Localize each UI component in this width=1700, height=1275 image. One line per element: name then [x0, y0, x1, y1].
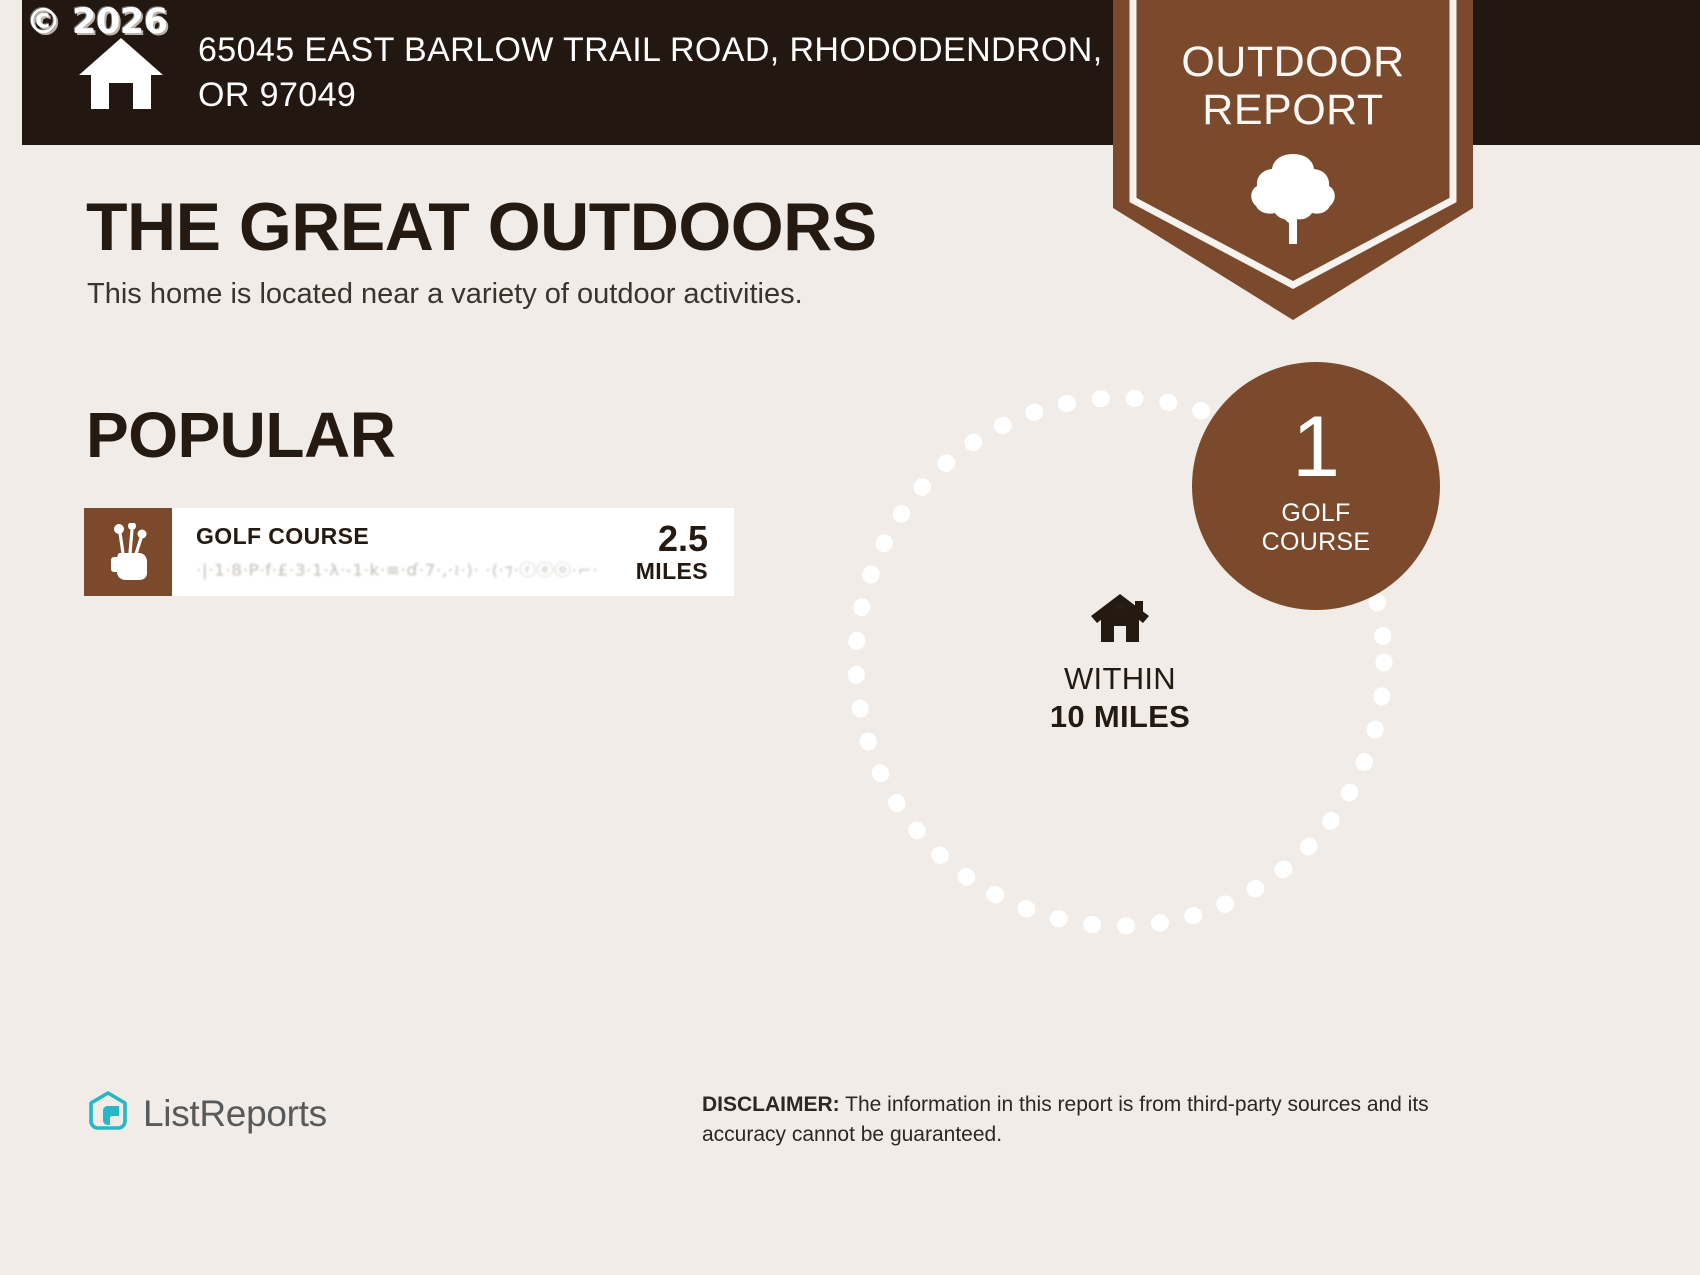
page-title: THE GREAT OUTDOORS [86, 188, 877, 266]
count-number: 1 [1292, 407, 1340, 489]
badge-title-line1: OUTDOOR [1113, 38, 1473, 86]
count-label-line1: GOLF [1262, 499, 1371, 528]
disclaimer-label: DISCLAIMER: [702, 1093, 840, 1116]
golf-bag-icon [84, 508, 172, 596]
poi-address-redacted: ·|·1·8·P·f·£·3·1·λ·-1·k·≡·ɗ·7·,·≀·⟩· ·⟨·… [196, 557, 598, 580]
page-subtitle: This home is located near a variety of o… [87, 278, 803, 311]
badge-title-line2: REPORT [1113, 86, 1473, 134]
list-item[interactable]: GOLF COURSE ·|·1·8·P·f·£·3·1·λ·-1·k·≡·ɗ·… [84, 508, 734, 596]
copyright-watermark: © 2026 [26, 2, 168, 42]
home-icon [1089, 631, 1151, 648]
listreports-house-logo-icon [86, 1089, 130, 1138]
outdoor-report-badge: OUTDOOR REPORT [1113, 0, 1473, 320]
list-item-text: GOLF COURSE ·|·1·8·P·f·£·3·1·λ·-1·k·≡·ɗ·… [196, 523, 598, 582]
count-bubble: 1 GOLF COURSE [1192, 362, 1440, 610]
center-home-marker: WITHIN 10 MILES [1025, 592, 1215, 735]
section-title-popular: POPULAR [86, 398, 395, 472]
poi-distance-unit: MILES [636, 559, 708, 584]
tree-icon [1247, 150, 1339, 245]
poi-name: GOLF COURSE [196, 523, 598, 551]
listreports-wordmark: ListReports [143, 1093, 327, 1135]
badge-title: OUTDOOR REPORT [1113, 38, 1473, 134]
radius-label: 10 MILES [1025, 699, 1215, 735]
home-icon [77, 35, 165, 111]
property-address: 65045 EAST BARLOW TRAIL ROAD, RHODODENDR… [198, 28, 1138, 118]
within-label: WITHIN [1025, 661, 1215, 697]
count-label: GOLF COURSE [1262, 499, 1371, 557]
list-item-body: GOLF COURSE ·|·1·8·P·f·£·3·1·λ·-1·k·≡·ɗ·… [172, 508, 734, 596]
poi-distance-value: 2.5 [636, 520, 708, 559]
poi-distance: 2.5 MILES [636, 520, 708, 584]
count-label-line2: COURSE [1262, 528, 1371, 557]
listreports-logo[interactable]: ListReports [86, 1089, 327, 1138]
disclaimer: DISCLAIMER: The information in this repo… [702, 1090, 1502, 1150]
radius-graphic: WITHIN 10 MILES 1 GOLF COURSE [840, 382, 1400, 942]
